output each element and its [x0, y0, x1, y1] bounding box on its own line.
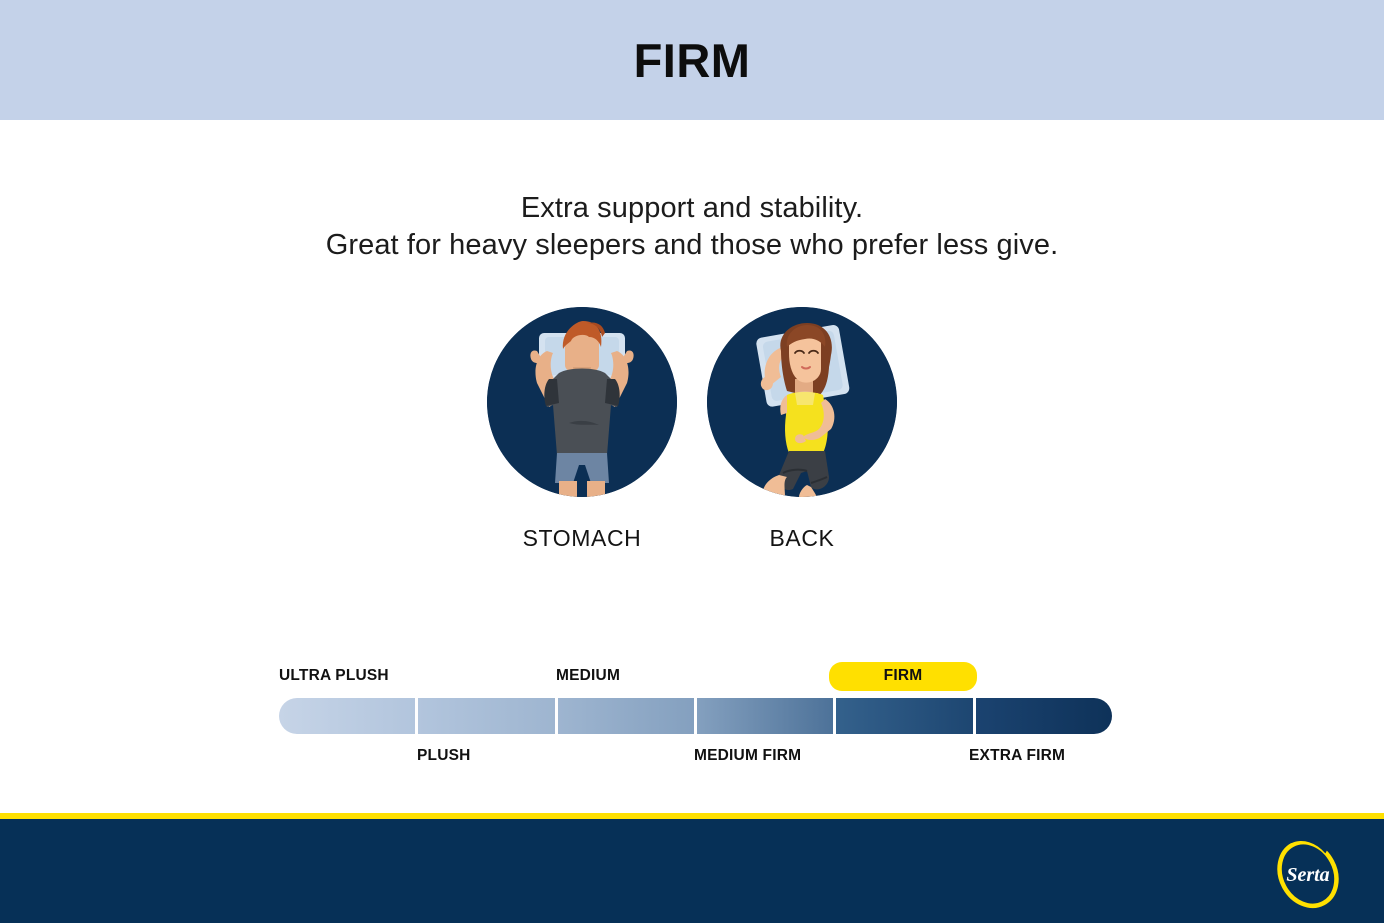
- back-sleeper-icon: [707, 307, 897, 497]
- scale-label-extra-firm[interactable]: EXTRA FIRM: [969, 747, 1065, 765]
- firmness-segment-ultra-plush[interactable]: [279, 698, 415, 734]
- position-card-back[interactable]: BACK: [707, 307, 897, 552]
- firmness-scale: ULTRA PLUSH MEDIUM FIRM PLUSH MEDIUM FIR…: [279, 663, 1112, 773]
- firmness-segment-firm[interactable]: [836, 698, 972, 734]
- page-title: FIRM: [0, 33, 1384, 88]
- scale-label-medium[interactable]: MEDIUM: [556, 667, 620, 685]
- firmness-guide-page: FIRM Extra support and stability. Great …: [0, 0, 1384, 923]
- scale-label-plush[interactable]: PLUSH: [417, 747, 471, 765]
- subtitle: Extra support and stability. Great for h…: [0, 190, 1384, 264]
- firmness-segment-extra-firm[interactable]: [976, 698, 1112, 734]
- subtitle-line-1: Extra support and stability.: [0, 190, 1384, 227]
- serta-wordmark: Serta: [1286, 864, 1329, 886]
- stomach-sleeper-icon: [487, 307, 677, 497]
- position-label-stomach: STOMACH: [523, 525, 642, 552]
- scale-label-medium-firm[interactable]: MEDIUM FIRM: [694, 747, 801, 765]
- sleep-positions: STOMACH: [0, 307, 1384, 552]
- firmness-labels-top: ULTRA PLUSH MEDIUM FIRM: [279, 663, 1112, 689]
- header-band: FIRM: [0, 0, 1384, 120]
- serta-logo[interactable]: Serta ®: [1272, 838, 1344, 910]
- firmness-segment-medium[interactable]: [558, 698, 694, 734]
- footer-band: [0, 819, 1384, 923]
- firmness-segment-medium-firm[interactable]: [697, 698, 833, 734]
- position-label-back: BACK: [769, 525, 834, 552]
- scale-label-ultra-plush[interactable]: ULTRA PLUSH: [279, 667, 389, 685]
- registered-trademark-mark: ®: [1332, 889, 1337, 896]
- subtitle-line-2: Great for heavy sleepers and those who p…: [0, 227, 1384, 264]
- firmness-segment-plush[interactable]: [418, 698, 554, 734]
- firmness-bar[interactable]: [279, 698, 1112, 734]
- firmness-labels-bottom: PLUSH MEDIUM FIRM EXTRA FIRM: [279, 743, 1112, 769]
- scale-label-firm-selected[interactable]: FIRM: [829, 662, 977, 691]
- position-card-stomach[interactable]: STOMACH: [487, 307, 677, 552]
